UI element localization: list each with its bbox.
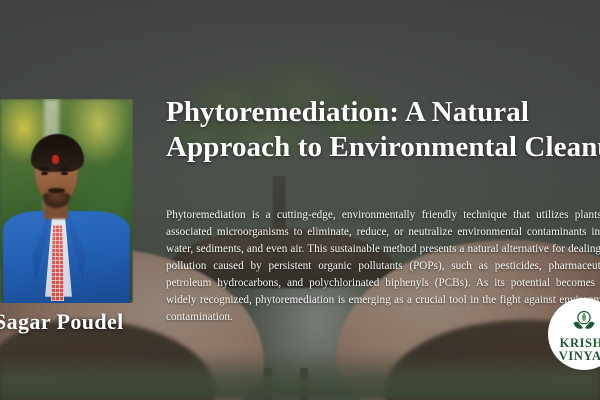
- article-banner: Phytoremediation: A Natural Approach to …: [0, 0, 600, 400]
- author-name-label: Sagar Poudel: [0, 309, 124, 335]
- portrait-eyebrow-right: [60, 167, 69, 170]
- hands-holding-leaf-icon: [571, 307, 597, 333]
- author-portrait: [0, 99, 133, 303]
- logo-word-primary: KRISHI: [560, 337, 600, 350]
- page-title: Phytoremediation: A Natural Approach to …: [166, 95, 600, 165]
- logo-word-secondary: VINYAS: [559, 350, 600, 363]
- portrait-tika-mark: [52, 155, 59, 164]
- article-body-text: Phytoremediation is a cutting-edge, envi…: [166, 207, 600, 326]
- portrait-eyebrow-left: [40, 167, 49, 170]
